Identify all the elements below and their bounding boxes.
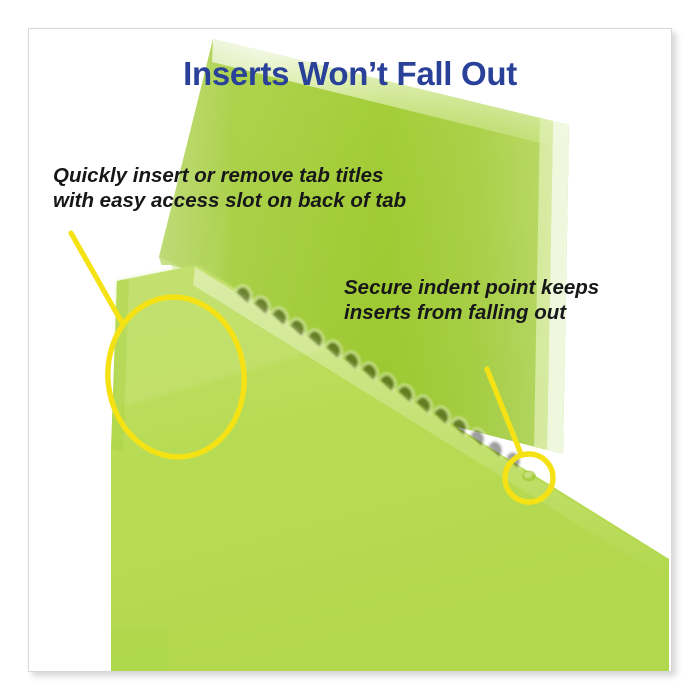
callout-label-access-slot: Quickly insert or remove tab titles with… xyxy=(53,163,406,213)
product-photo xyxy=(29,29,671,671)
product-feature-card: Inserts Won’t Fall Out Quickly insert or… xyxy=(28,28,672,672)
callout-label-indent-point: Secure indent point keeps inserts from f… xyxy=(344,275,599,325)
indent-point xyxy=(522,471,536,482)
page-title: Inserts Won’t Fall Out xyxy=(29,55,671,93)
screenshot-canvas: Inserts Won’t Fall Out Quickly insert or… xyxy=(0,0,700,700)
